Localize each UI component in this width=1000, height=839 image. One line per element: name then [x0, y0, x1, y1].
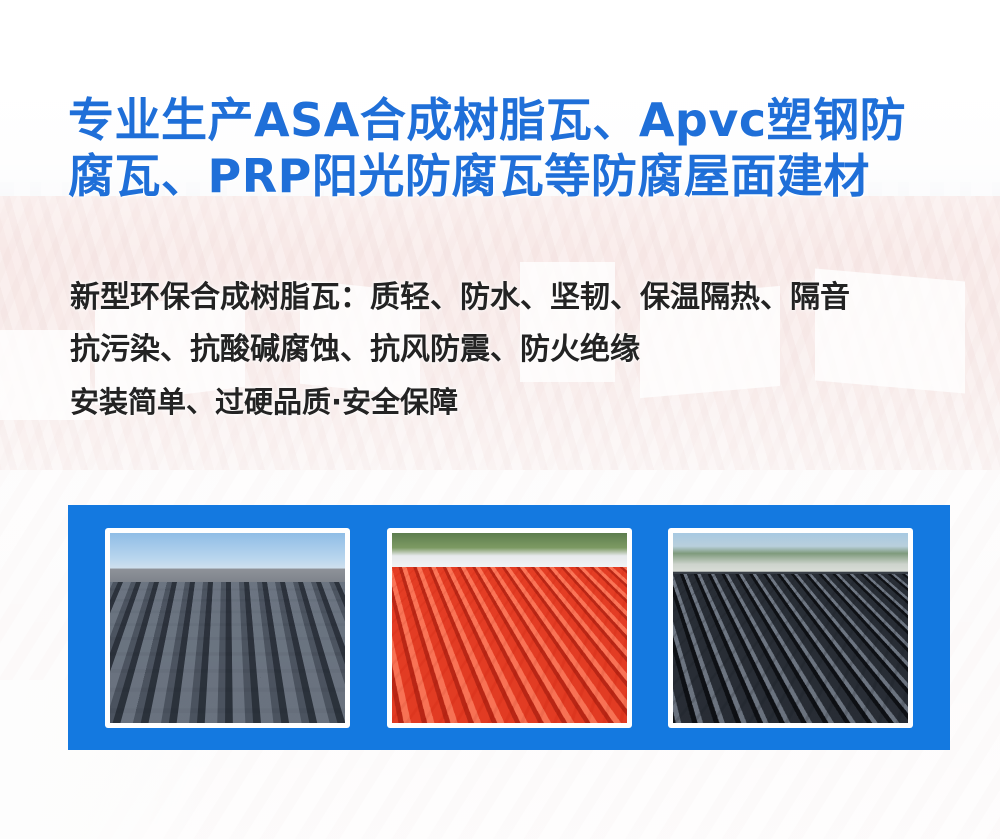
banner-content: 专业生产ASA合成树脂瓦、Apvc塑钢防 腐瓦、PRP阳光防腐瓦等防腐屋面建材 … — [0, 0, 1000, 839]
red-resin-tile-roof-image — [392, 533, 627, 723]
gallery-photo-2[interactable] — [387, 528, 632, 728]
product-banner: 专业生产ASA合成树脂瓦、Apvc塑钢防 腐瓦、PRP阳光防腐瓦等防腐屋面建材 … — [0, 0, 1000, 839]
photo-gallery-row — [68, 505, 950, 750]
photo-gallery-panel — [68, 505, 950, 750]
subtitle-line-1: 新型环保合成树脂瓦：质轻、防水、坚韧、保温隔热、隔音 — [70, 272, 970, 324]
grey-resin-tile-roof-image — [110, 533, 345, 723]
headline: 专业生产ASA合成树脂瓦、Apvc塑钢防 腐瓦、PRP阳光防腐瓦等防腐屋面建材 — [68, 92, 948, 204]
subtitle-line-3: 安装简单、过硬品质·安全保障 — [70, 376, 970, 428]
gallery-photo-3[interactable] — [668, 528, 913, 728]
subtitle-line-2: 抗污染、抗酸碱腐蚀、抗风防震、防火绝缘 — [70, 324, 970, 376]
subtitle: 新型环保合成树脂瓦：质轻、防水、坚韧、保温隔热、隔音 抗污染、抗酸碱腐蚀、抗风防… — [70, 272, 970, 428]
gallery-photo-1[interactable] — [105, 528, 350, 728]
black-resin-tile-roof-image — [673, 533, 908, 723]
headline-line-1: 专业生产ASA合成树脂瓦、Apvc塑钢防 — [68, 92, 948, 148]
headline-line-2: 腐瓦、PRP阳光防腐瓦等防腐屋面建材 — [68, 148, 948, 204]
